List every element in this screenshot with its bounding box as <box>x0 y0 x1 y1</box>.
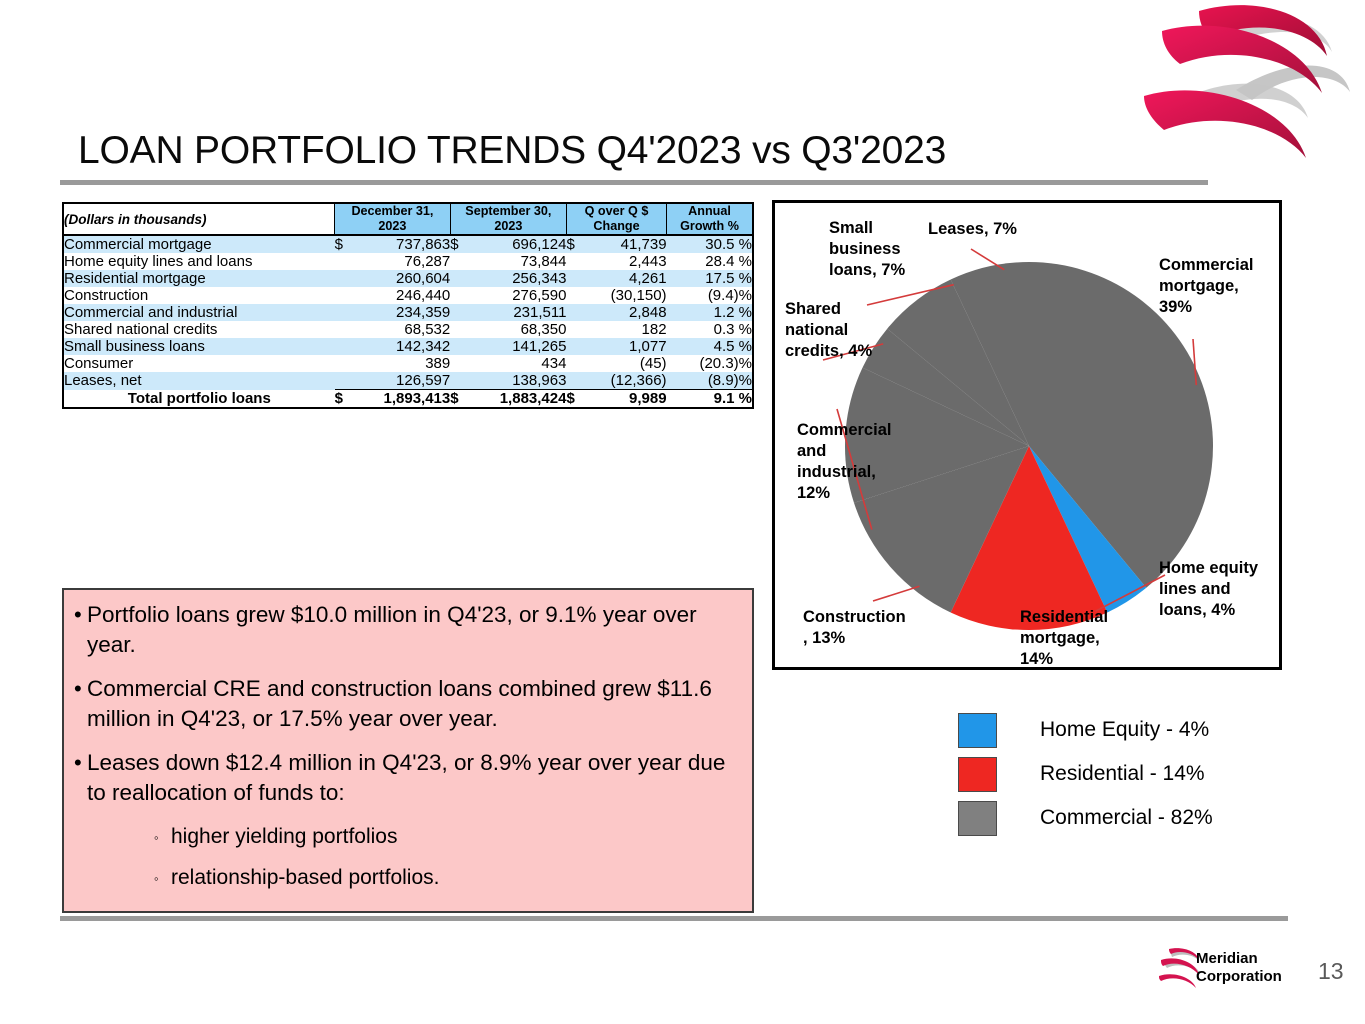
pie-label-small-business-loans: Small business loans, 7% <box>829 218 933 281</box>
loan-mix-pie-panel: Small business loans, 7% Leases, 7% Comm… <box>772 200 1282 670</box>
row-currency-sep <box>450 253 470 270</box>
row-currency-sep <box>450 321 470 338</box>
table-total-row: Total portfolio loans$1,893,413$1,883,42… <box>63 390 753 409</box>
row-value-dec: 142,342 <box>355 338 451 355</box>
row-value-growth: 0.3 % <box>667 321 753 338</box>
row-value-growth: 30.5 % <box>667 235 753 253</box>
row-currency-dec <box>335 253 355 270</box>
table-row: Leases, net126,597138,963(12,366)(8.9)% <box>63 372 753 390</box>
row-value-change: 2,848 <box>586 304 666 321</box>
row-value-change: (45) <box>586 355 666 372</box>
row-value-change: 4,261 <box>586 270 666 287</box>
table-row: Residential mortgage260,604256,3434,2611… <box>63 270 753 287</box>
row-currency-dec <box>335 304 355 321</box>
table-row: Shared national credits68,53268,3501820.… <box>63 321 753 338</box>
row-value-growth: 17.5 % <box>667 270 753 287</box>
table-row: Home equity lines and loans76,28773,8442… <box>63 253 753 270</box>
legend-swatch <box>958 801 997 836</box>
row-currency-dec: $ <box>335 235 355 253</box>
row-value-growth: (20.3)% <box>667 355 753 372</box>
total-currency-sep: $ <box>450 390 470 409</box>
row-currency-chg <box>566 270 586 287</box>
column-header-annual-growth: AnnualGrowth % <box>667 203 753 235</box>
bullet-item: •Commercial CRE and construction loans c… <box>74 674 738 734</box>
row-currency-dec <box>335 372 355 390</box>
row-label: Commercial and industrial <box>63 304 335 321</box>
row-value-growth: 1.2 % <box>667 304 753 321</box>
row-currency-sep: $ <box>450 235 470 253</box>
sub-bullet-marker-icon: ◦ <box>154 863 171 894</box>
loan-portfolio-table: (Dollars in thousands) December 31,2023 … <box>62 202 754 409</box>
page-number: 13 <box>1318 958 1344 985</box>
row-value-change: 2,443 <box>586 253 666 270</box>
legend-label: Residential - 14% <box>1040 762 1205 786</box>
page-title: LOAN PORTFOLIO TRENDS Q4'2023 vs Q3'2023 <box>78 128 1198 176</box>
row-value-dec: 260,604 <box>355 270 451 287</box>
row-currency-chg <box>566 321 586 338</box>
footer-brand-name: MeridianCorporation <box>1196 950 1282 986</box>
row-currency-chg <box>566 338 586 355</box>
pie-legend: Home Equity - 4%Residential - 14%Commerc… <box>958 708 1288 840</box>
row-value-change: 41,739 <box>586 235 666 253</box>
footer-divider <box>60 916 1288 921</box>
bullet-text: Commercial CRE and construction loans co… <box>87 674 738 734</box>
row-value-growth: (9.4)% <box>667 287 753 304</box>
row-currency-sep <box>450 304 470 321</box>
row-value-change: (12,366) <box>586 372 666 390</box>
table-row: Consumer389434(45)(20.3)% <box>63 355 753 372</box>
row-currency-sep <box>450 287 470 304</box>
row-label: Shared national credits <box>63 321 335 338</box>
row-currency-sep <box>450 270 470 287</box>
table-total-body: Total portfolio loans$1,893,413$1,883,42… <box>63 390 753 409</box>
pie-label-commercial-mortgage: Commercial mortgage, 39% <box>1159 255 1279 318</box>
sub-bullet-text: relationship-based portfolios. <box>171 863 440 894</box>
row-value-growth: 4.5 % <box>667 338 753 355</box>
column-header-qoq-change: Q over Q $Change <box>566 203 666 235</box>
row-currency-sep <box>450 338 470 355</box>
row-value-change: 1,077 <box>586 338 666 355</box>
total-value-sep: 1,883,424 <box>470 390 566 409</box>
legend-item: Residential - 14% <box>958 752 1288 796</box>
column-header-december: December 31,2023 <box>335 203 451 235</box>
pie-label-construction: Construction , 13% <box>803 607 933 649</box>
bullet-list: •Portfolio loans grew $10.0 million in Q… <box>74 600 738 808</box>
column-header-september: September 30,2023 <box>450 203 566 235</box>
row-value-dec: 737,863 <box>355 235 451 253</box>
row-value-sep: 276,590 <box>470 287 566 304</box>
bullet-text: Leases down $12.4 million in Q4'23, or 8… <box>87 748 738 808</box>
row-currency-chg <box>566 304 586 321</box>
bullet-text: Portfolio loans grew $10.0 million in Q4… <box>87 600 738 660</box>
row-label: Residential mortgage <box>63 270 335 287</box>
sub-bullet-item: ◦higher yielding portfolios <box>154 822 738 853</box>
legend-item: Commercial - 82% <box>958 796 1288 840</box>
legend-item: Home Equity - 4% <box>958 708 1288 752</box>
row-currency-dec <box>335 321 355 338</box>
table-header-row: (Dollars in thousands) December 31,2023 … <box>63 203 753 235</box>
row-label: Home equity lines and loans <box>63 253 335 270</box>
row-value-sep: 141,265 <box>470 338 566 355</box>
commentary-callout: •Portfolio loans grew $10.0 million in Q… <box>62 588 754 913</box>
row-currency-chg <box>566 287 586 304</box>
row-currency-chg <box>566 372 586 390</box>
row-currency-chg: $ <box>566 235 586 253</box>
row-currency-chg <box>566 253 586 270</box>
pie-leader-line <box>971 249 1004 270</box>
row-value-sep: 256,343 <box>470 270 566 287</box>
row-value-sep: 231,511 <box>470 304 566 321</box>
row-value-dec: 246,440 <box>355 287 451 304</box>
total-value-growth: 9.1 % <box>667 390 753 409</box>
total-currency-chg: $ <box>566 390 586 409</box>
pie-label-shared-national-credits: Shared national credits, 4% <box>785 299 893 362</box>
total-value-change: 9,989 <box>586 390 666 409</box>
total-currency-dec: $ <box>335 390 355 409</box>
row-currency-dec <box>335 338 355 355</box>
pie-label-home-equity: Home equity lines and loans, 4% <box>1159 558 1277 621</box>
row-value-dec: 389 <box>355 355 451 372</box>
table-row: Construction246,440276,590(30,150)(9.4)% <box>63 287 753 304</box>
row-value-dec: 76,287 <box>355 253 451 270</box>
total-value-dec: 1,893,413 <box>355 390 451 409</box>
bullet-item: •Leases down $12.4 million in Q4'23, or … <box>74 748 738 808</box>
total-label: Total portfolio loans <box>63 390 335 409</box>
bullet-marker-icon: • <box>74 748 87 808</box>
row-label: Construction <box>63 287 335 304</box>
pie-label-leases: Leases, 7% <box>928 219 1048 240</box>
legend-swatch <box>958 713 997 748</box>
table-row: Small business loans142,342141,2651,0774… <box>63 338 753 355</box>
row-label: Commercial mortgage <box>63 235 335 253</box>
row-value-sep: 434 <box>470 355 566 372</box>
table-row: Commercial mortgage$737,863$696,124$41,7… <box>63 235 753 253</box>
row-value-growth: (8.9)% <box>667 372 753 390</box>
row-currency-dec <box>335 287 355 304</box>
bullet-marker-icon: • <box>74 674 87 734</box>
pie-label-residential-mortgage: Residential mortgage, 14% <box>1020 607 1140 670</box>
unit-note: (Dollars in thousands) <box>63 203 335 235</box>
row-currency-sep <box>450 355 470 372</box>
row-label: Consumer <box>63 355 335 372</box>
row-label: Small business loans <box>63 338 335 355</box>
row-value-dec: 68,532 <box>355 321 451 338</box>
title-divider <box>60 180 1208 185</box>
row-value-dec: 234,359 <box>355 304 451 321</box>
legend-label: Home Equity - 4% <box>1040 718 1209 742</box>
table-body: Commercial mortgage$737,863$696,124$41,7… <box>63 235 753 390</box>
sub-bullet-item: ◦relationship-based portfolios. <box>154 863 738 894</box>
row-value-growth: 28.4 % <box>667 253 753 270</box>
pie-leader-line <box>873 586 919 601</box>
bullet-item: •Portfolio loans grew $10.0 million in Q… <box>74 600 738 660</box>
bullet-marker-icon: • <box>74 600 87 660</box>
row-value-change: (30,150) <box>586 287 666 304</box>
row-currency-dec <box>335 270 355 287</box>
pie-label-commercial-and-industrial: Commercial and industrial, 12% <box>797 420 907 504</box>
sub-bullet-text: higher yielding portfolios <box>171 822 397 853</box>
legend-label: Commercial - 82% <box>1040 806 1213 830</box>
row-value-change: 182 <box>586 321 666 338</box>
row-value-dec: 126,597 <box>355 372 451 390</box>
row-value-sep: 68,350 <box>470 321 566 338</box>
row-label: Leases, net <box>63 372 335 390</box>
row-value-sep: 696,124 <box>470 235 566 253</box>
row-currency-chg <box>566 355 586 372</box>
row-currency-dec <box>335 355 355 372</box>
sub-bullet-marker-icon: ◦ <box>154 822 171 853</box>
row-currency-sep <box>450 372 470 390</box>
sub-bullet-list: ◦higher yielding portfolios◦relationship… <box>74 822 738 894</box>
row-value-sep: 138,963 <box>470 372 566 390</box>
table-row: Commercial and industrial234,359231,5112… <box>63 304 753 321</box>
row-value-sep: 73,844 <box>470 253 566 270</box>
legend-swatch <box>958 757 997 792</box>
